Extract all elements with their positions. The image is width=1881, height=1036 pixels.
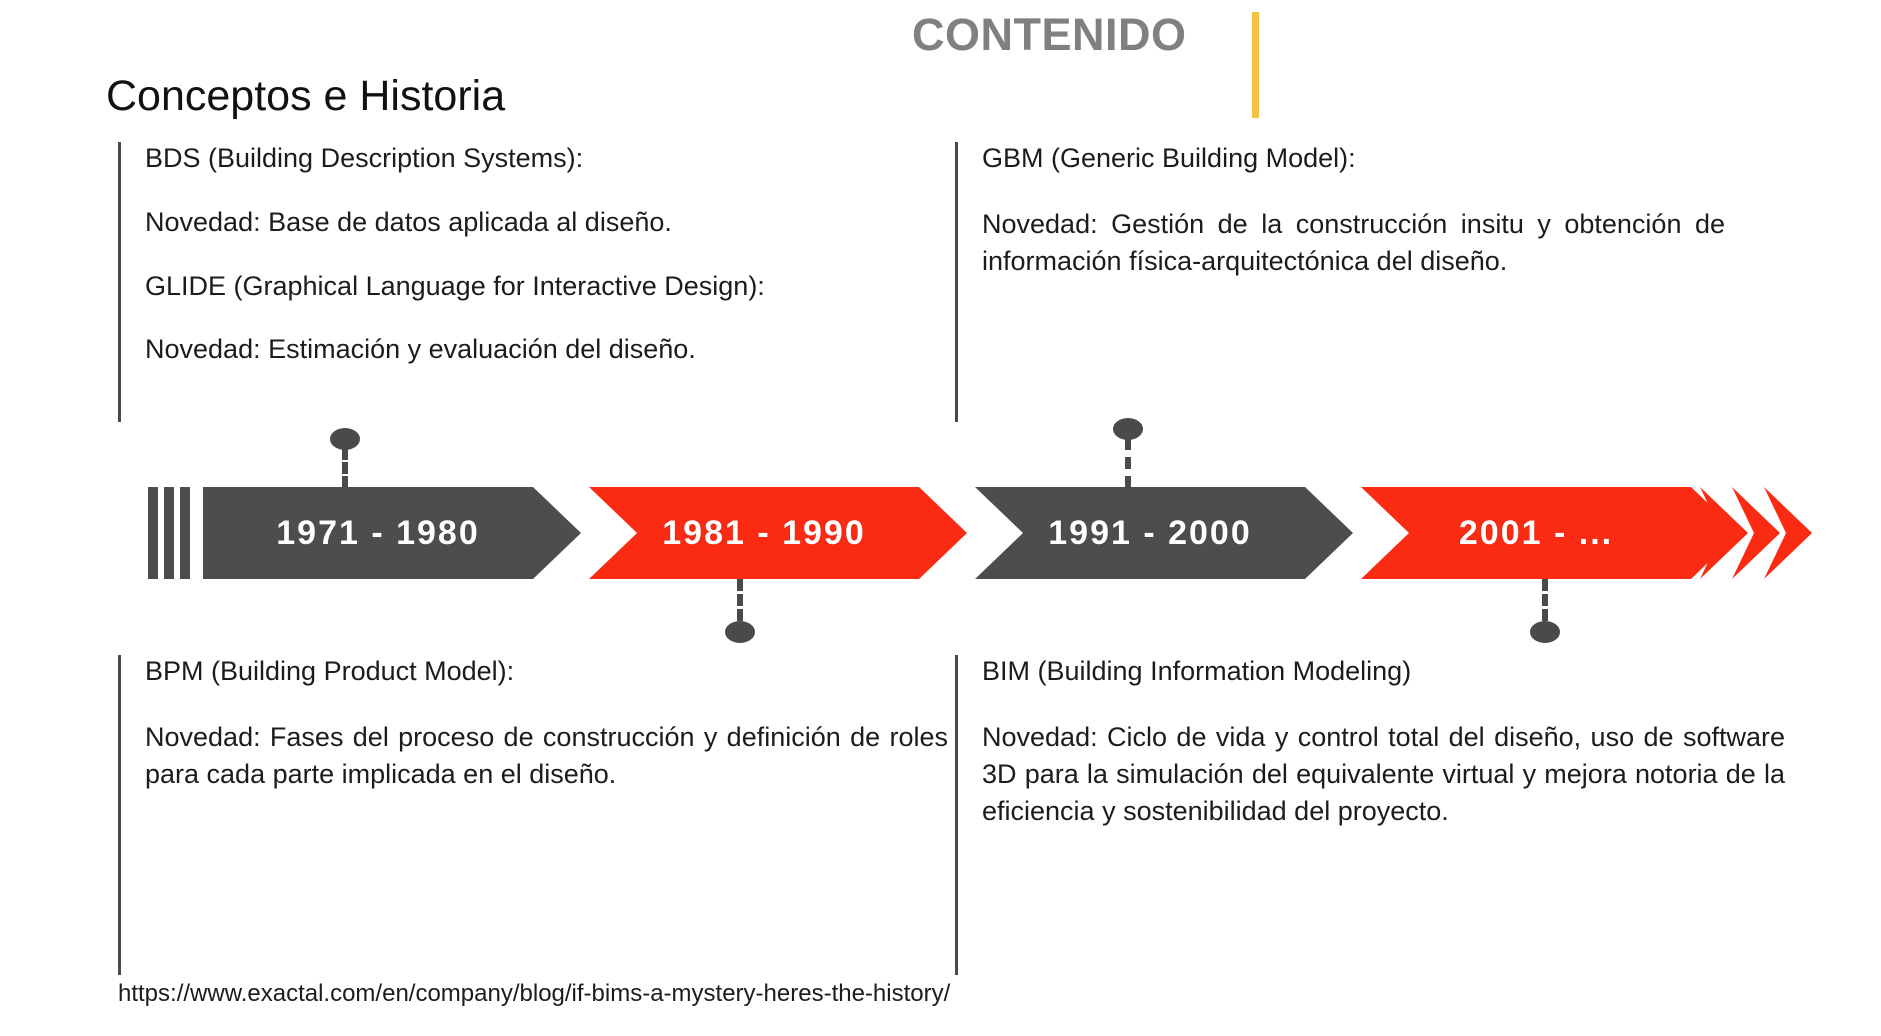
connector-dot <box>330 428 360 450</box>
source-url[interactable]: https://www.exactal.com/en/company/blog/… <box>118 980 950 1008</box>
connector-dot <box>1530 621 1560 643</box>
connector-stem <box>1125 438 1137 488</box>
timeline-end-chevrons <box>1700 487 1840 579</box>
timeline-segment-1971-1980[interactable]: 1971 - 1980 <box>203 487 581 579</box>
timeline: 1971 - 1980 1981 - 1990 1991 - 2000 2001… <box>148 487 1768 579</box>
connector-stem <box>737 579 749 621</box>
info-block-bds: BDS (Building Description Systems): Nove… <box>118 142 918 422</box>
bds-novedad: Novedad: Base de datos aplicada al diseñ… <box>145 206 918 240</box>
connector-stem <box>342 448 354 488</box>
timeline-segment-2001-onwards[interactable]: 2001 - ... <box>1361 487 1739 579</box>
connector-dot <box>1113 418 1143 440</box>
start-bar-1 <box>148 487 158 579</box>
start-bar-2 <box>164 487 174 579</box>
timeline-segment-label: 1971 - 1980 <box>203 514 581 553</box>
bpm-novedad: Novedad: Fases del proceso de construcci… <box>145 719 948 794</box>
gbm-novedad: Novedad: Gestión de la construcción insi… <box>982 206 1725 281</box>
info-block-bpm: BPM (Building Product Model): Novedad: F… <box>118 655 948 975</box>
glide-title: GLIDE (Graphical Language for Interactiv… <box>145 270 918 304</box>
timeline-segment-1991-2000[interactable]: 1991 - 2000 <box>975 487 1353 579</box>
timeline-segment-label: 1991 - 2000 <box>975 514 1353 553</box>
slide-heading: Conceptos e Historia <box>106 72 505 121</box>
timeline-segment-1981-1990[interactable]: 1981 - 1990 <box>589 487 967 579</box>
connector-dot <box>725 621 755 643</box>
bpm-title: BPM (Building Product Model): <box>145 655 948 689</box>
timeline-start-bars <box>148 487 192 579</box>
title-accent-bar <box>1252 12 1259 118</box>
connector-stem <box>1542 579 1554 621</box>
bim-title: BIM (Building Information Modeling) <box>982 655 1785 689</box>
start-bar-3 <box>180 487 190 579</box>
bim-novedad: Novedad: Ciclo de vida y control total d… <box>982 719 1785 831</box>
bds-title: BDS (Building Description Systems): <box>145 142 918 176</box>
page-title: CONTENIDO <box>912 9 1187 61</box>
info-block-gbm: GBM (Generic Building Model): Novedad: G… <box>955 142 1725 422</box>
glide-novedad: Novedad: Estimación y evaluación del dis… <box>145 333 918 367</box>
timeline-segment-label: 1981 - 1990 <box>589 514 967 553</box>
timeline-segment-label: 2001 - ... <box>1361 514 1739 553</box>
gbm-title: GBM (Generic Building Model): <box>982 142 1725 176</box>
info-block-bim: BIM (Building Information Modeling) Nove… <box>955 655 1785 975</box>
